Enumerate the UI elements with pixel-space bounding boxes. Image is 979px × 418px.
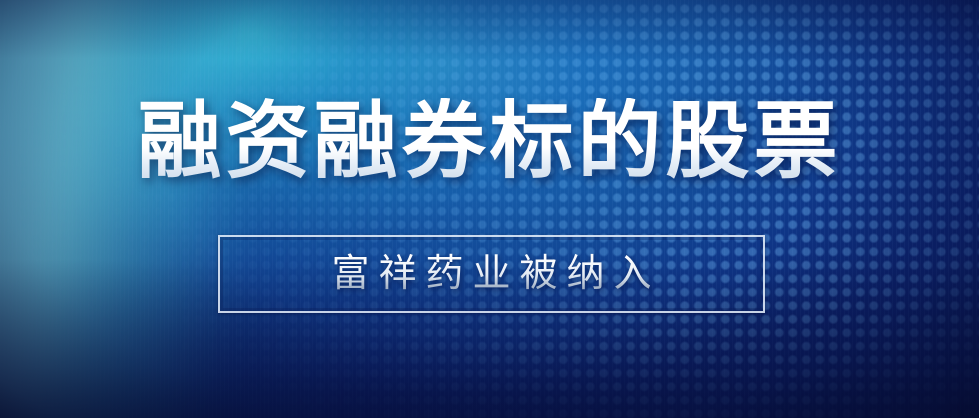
banner-content: 融资融券标的股票 富祥药业被纳入 [0,0,979,418]
subtitle-frame: 富祥药业被纳入 [218,235,765,313]
promo-banner: 融资融券标的股票 富祥药业被纳入 [0,0,979,418]
banner-subtitle: 富祥药业被纳入 [322,252,660,296]
banner-headline: 融资融券标的股票 [137,98,841,184]
